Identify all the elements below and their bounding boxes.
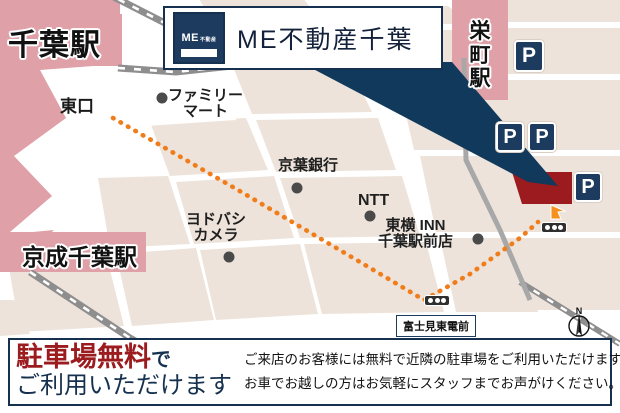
- banner-body-line2: お車でお越しの方はお気軽にスタッフまでお声がけください。: [244, 372, 620, 396]
- poi-label-yodobashi-line2: カメラ: [186, 228, 246, 244]
- poi-label-familymart: ファミリー マート: [168, 88, 243, 120]
- poi-label-toyoko-inn-line1: 東横 INN: [378, 218, 453, 234]
- poi-label-yodobashi: ヨドバシ カメラ: [186, 212, 246, 244]
- logo-mark-text: ME 不動産: [181, 32, 216, 44]
- exit-label-higashiguchi: 東口: [60, 92, 94, 117]
- logo-mark-main: ME: [181, 32, 199, 44]
- banner-body-line1: ご来店のお客様には無料で近隣の駐車場をご利用いただけます。: [244, 348, 620, 372]
- parking-sign-2: P: [496, 122, 524, 152]
- parking-free-banner: 駐車場無料で ご利用いただけます ご来店のお客様には無料で近隣の駐車場をご利用い…: [8, 338, 612, 406]
- poi-label-toyoko-inn: 東横 INN 千葉駅前店: [378, 218, 453, 250]
- logo-mark-sub: 不動産: [200, 38, 217, 44]
- station-label-keisei-chiba: 京成千葉駅: [22, 238, 137, 272]
- parking-sign-4: P: [574, 172, 602, 202]
- logo-mark-bar: [181, 49, 217, 57]
- banner-headline-line2: ご利用いただけます: [16, 373, 232, 399]
- banner-body: ご来店のお客様には無料で近隣の駐車場をご利用いただけます。 お車でお越しの方はお…: [232, 348, 620, 395]
- banner-headline-line1: 駐車場無料で: [16, 344, 232, 371]
- banner-headline-tail: で: [151, 349, 171, 371]
- poi-label-familymart-line1: ファミリー: [168, 88, 243, 104]
- poi-label-ntt: NTT: [358, 192, 389, 209]
- station-label-sakaecho: 栄町駅: [460, 20, 500, 91]
- parking-sign-1: P: [514, 40, 544, 72]
- banner-headline: 駐車場無料で ご利用いただけます: [10, 344, 232, 399]
- station-label-chiba: 千葉駅: [8, 20, 101, 64]
- parking-sign-3: P: [528, 122, 556, 152]
- traffic-signal-icon-2: [424, 295, 450, 306]
- crossing-label-fujimi-higashidenmae: 富士見東電前: [396, 315, 476, 337]
- compass-rose: N: [566, 305, 592, 339]
- company-logo-box: ME 不動産 ME不動産千葉: [163, 6, 443, 70]
- logo-mark: ME 不動産: [173, 12, 225, 64]
- company-name: ME不動産千葉: [237, 20, 414, 56]
- map-flyer: ME 不動産 ME不動産千葉 千葉駅 栄町駅 京成千葉駅 東口 ファミリー マー…: [0, 0, 620, 413]
- destination-cursor-icon: [549, 203, 569, 223]
- poi-label-familymart-line2: マート: [168, 104, 243, 120]
- banner-headline-red: 駐車場無料: [16, 342, 151, 372]
- poi-label-keiyo-bank: 京葉銀行: [278, 158, 338, 174]
- poi-label-yodobashi-line1: ヨドバシ: [186, 212, 246, 228]
- traffic-signal-icon-1: [541, 222, 567, 233]
- poi-label-toyoko-inn-line2: 千葉駅前店: [378, 234, 453, 250]
